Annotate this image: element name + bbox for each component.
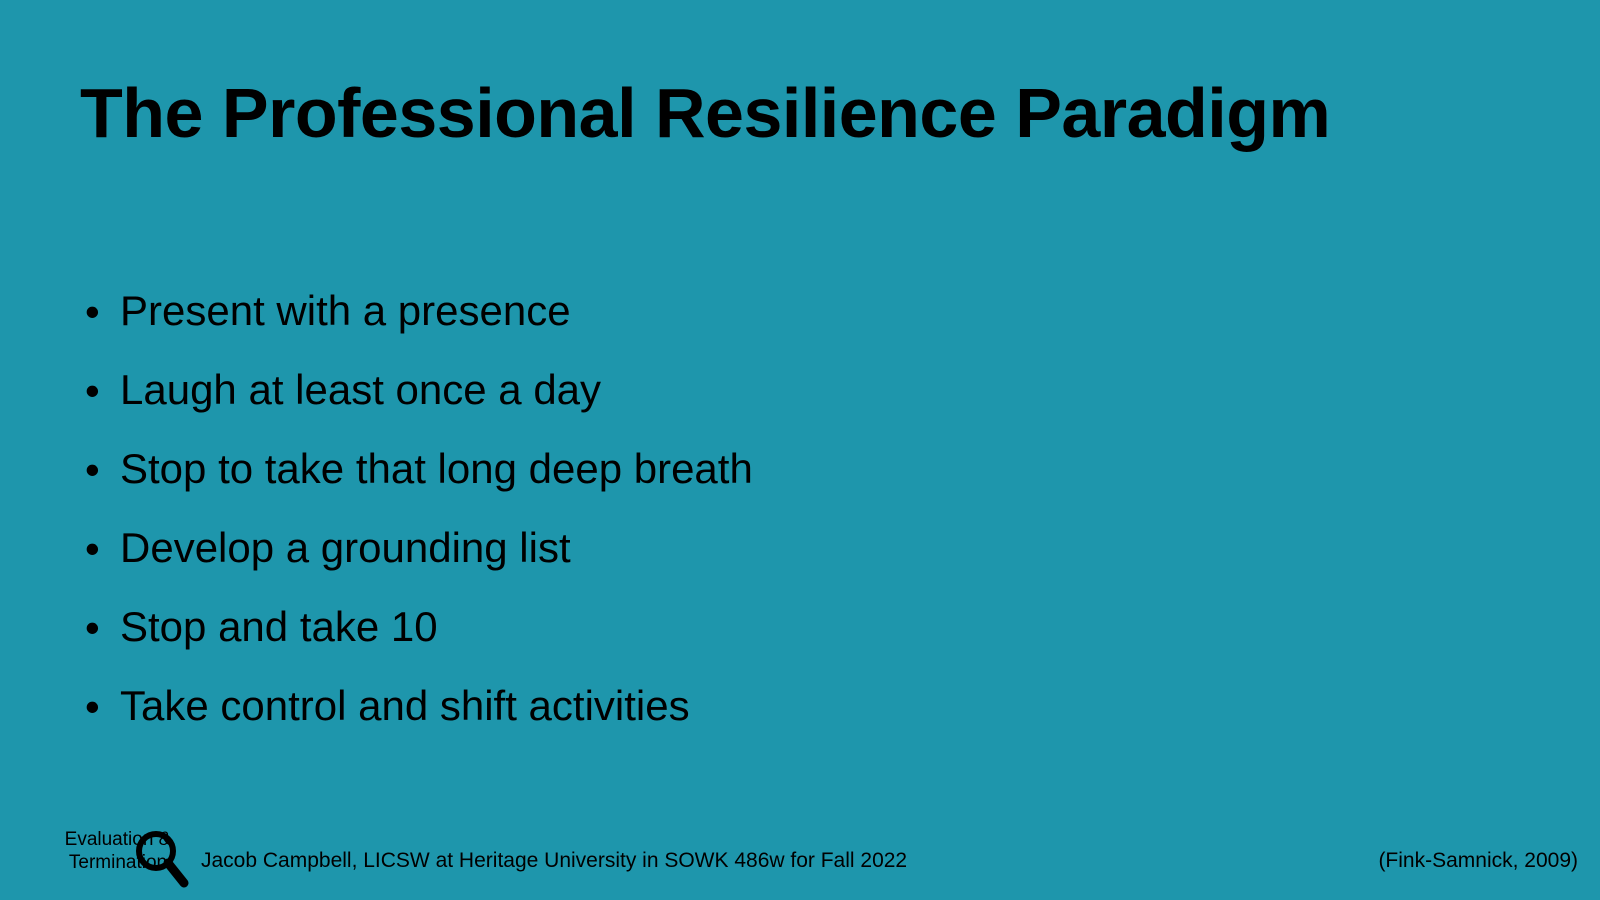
magnifier-icon [130, 826, 192, 888]
bullet-point-icon: • [80, 291, 120, 333]
bullet-list: • Present with a presence • Laugh at lea… [80, 272, 1500, 746]
list-item-label: Stop and take 10 [120, 604, 438, 650]
footer-citation: (Fink-Samnick, 2009) [1378, 848, 1578, 874]
bullet-point-icon: • [80, 686, 120, 728]
bullet-point-icon: • [80, 528, 120, 570]
list-item-label: Stop to take that long deep breath [120, 446, 753, 492]
list-item: • Stop to take that long deep breath [80, 430, 1500, 509]
footer-attribution: Jacob Campbell, LICSW at Heritage Univer… [201, 848, 907, 874]
list-item-label: Take control and shift activities [120, 683, 690, 729]
list-item: • Laugh at least once a day [80, 351, 1500, 430]
list-item: • Present with a presence [80, 272, 1500, 351]
list-item-label: Laugh at least once a day [120, 367, 601, 413]
page-title: The Professional Resilience Paradigm [80, 78, 1520, 148]
list-item: • Develop a grounding list [80, 509, 1500, 588]
list-item-label: Present with a presence [120, 288, 571, 334]
slide-canvas: The Professional Resilience Paradigm • P… [0, 0, 1600, 900]
list-item: • Take control and shift activities [80, 667, 1500, 746]
slide-footer: Evaluation & Termination Jacob Campbell,… [0, 820, 1600, 900]
list-item-label: Develop a grounding list [120, 525, 571, 571]
list-item: • Stop and take 10 [80, 588, 1500, 667]
bullet-point-icon: • [80, 607, 120, 649]
bullet-point-icon: • [80, 370, 120, 412]
bullet-point-icon: • [80, 449, 120, 491]
section-badge: Evaluation & Termination [48, 826, 198, 882]
